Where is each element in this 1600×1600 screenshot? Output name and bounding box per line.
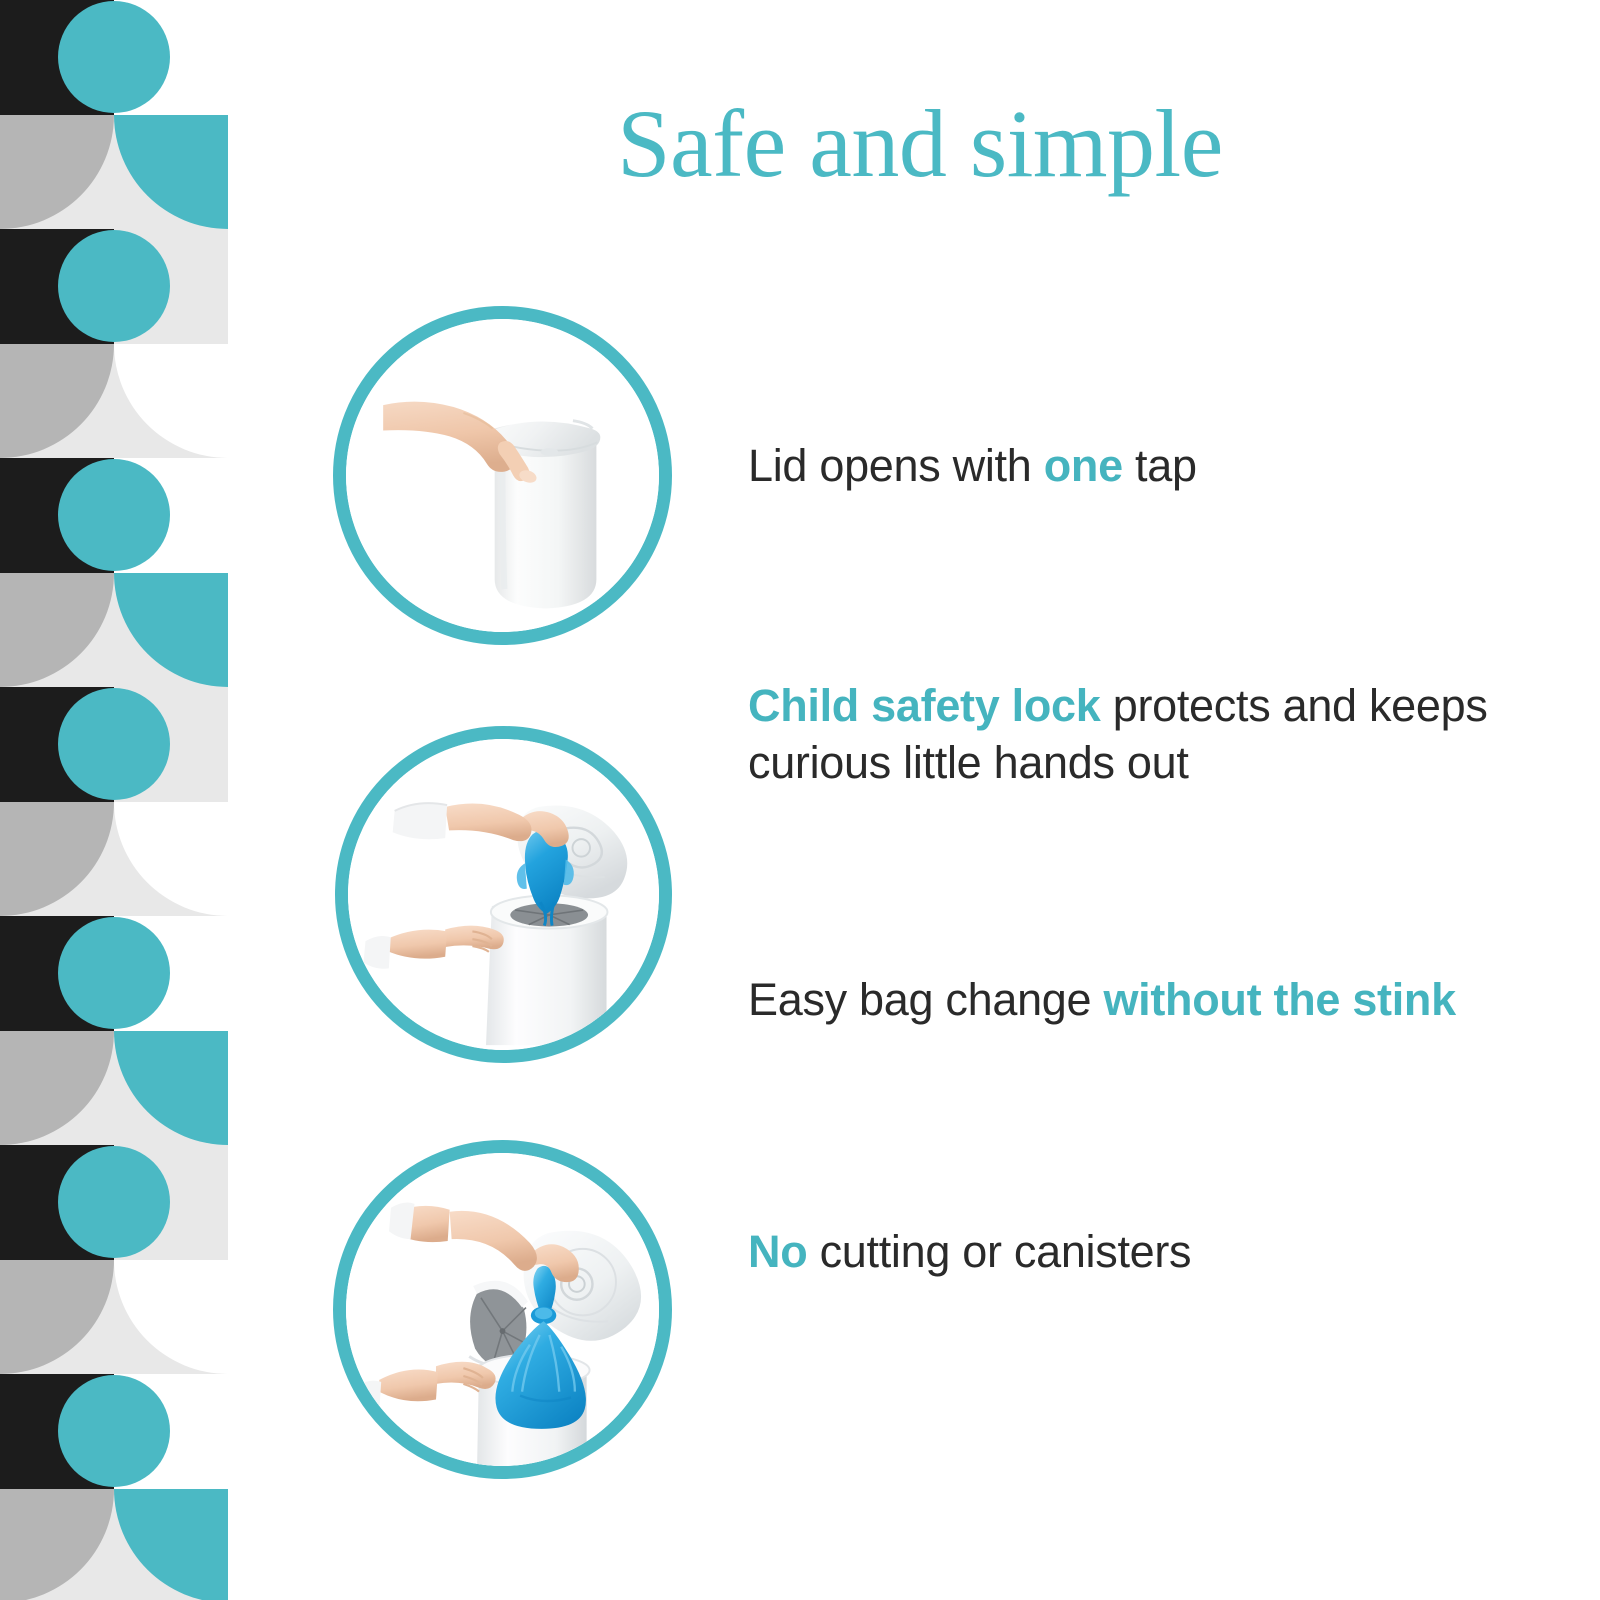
feature-1-part-1: one	[1044, 440, 1123, 491]
pattern-quarter-circle	[0, 1031, 114, 1145]
feature-1-part-2: tap	[1123, 440, 1197, 491]
feature-text-lid-one-tap: Lid opens with one tap	[748, 438, 1548, 495]
pattern-circle	[58, 688, 170, 800]
pattern-cell	[114, 802, 228, 916]
feature-1-part-0: Lid opens with	[748, 440, 1044, 491]
photo-ring-2	[335, 726, 672, 1063]
pattern-circle	[58, 1, 170, 113]
pattern-cell	[114, 1489, 228, 1600]
pattern-quarter-circle	[0, 1260, 114, 1374]
pattern-cell	[114, 1374, 228, 1489]
pattern-cell	[114, 1031, 228, 1145]
page-title: Safe and simple	[300, 96, 1540, 192]
photo-3-clip	[346, 1153, 659, 1466]
pattern-cell	[114, 229, 228, 344]
pattern-cell	[0, 1260, 114, 1374]
pattern-quarter-circle	[114, 1031, 228, 1145]
pattern-circle	[58, 230, 170, 342]
photo-1-clip	[346, 319, 659, 632]
feature-4-part-0: No	[748, 1226, 807, 1277]
geometric-pattern-strip	[0, 0, 228, 1600]
photo-2-clip	[348, 739, 659, 1050]
feature-text-easy-bag-change: Easy bag change without the stink	[748, 972, 1568, 1029]
pattern-cell	[114, 1145, 228, 1260]
pattern-circle	[58, 1146, 170, 1258]
feature-3-part-0: Easy bag change	[748, 974, 1103, 1025]
hand-removing-tied-bag-photo	[346, 1153, 659, 1466]
hands-loading-bag-photo	[348, 739, 659, 1050]
pattern-quarter-circle	[114, 115, 228, 229]
pattern-quarter-circle	[114, 1489, 228, 1600]
pattern-cell	[114, 115, 228, 229]
pattern-quarter-circle	[114, 1260, 228, 1374]
pattern-quarter-circle	[0, 115, 114, 229]
pattern-cell	[114, 0, 228, 115]
pattern-cell	[114, 573, 228, 687]
pattern-cell	[0, 573, 114, 687]
pattern-quarter-circle	[0, 802, 114, 916]
pattern-cell	[114, 916, 228, 1031]
feature-4-part-1: cutting or canisters	[807, 1226, 1191, 1277]
feature-text-child-safety-lock: Child safety lock protects and keeps cur…	[748, 678, 1508, 791]
pattern-cell	[0, 802, 114, 916]
pattern-cell	[0, 344, 114, 458]
pattern-cell	[0, 1031, 114, 1145]
photo-ring-3	[333, 1140, 672, 1479]
pattern-quarter-circle	[114, 344, 228, 458]
hand-tap-lid-photo	[346, 319, 659, 632]
pattern-cell	[114, 344, 228, 458]
pattern-cell	[114, 687, 228, 802]
pattern-circle	[58, 459, 170, 571]
pattern-quarter-circle	[0, 344, 114, 458]
feature-3-part-1: without the stink	[1103, 974, 1455, 1025]
infographic-page: Safe and simple	[0, 0, 1600, 1600]
feature-text-no-cutting-canisters: No cutting or canisters	[748, 1224, 1548, 1281]
pattern-cell	[0, 1489, 114, 1600]
pattern-quarter-circle	[114, 573, 228, 687]
pattern-cell	[114, 1260, 228, 1374]
photo-ring-1	[333, 306, 672, 645]
pattern-circle	[58, 917, 170, 1029]
pattern-quarter-circle	[114, 802, 228, 916]
pattern-quarter-circle	[0, 1489, 114, 1600]
pattern-quarter-circle	[0, 573, 114, 687]
pattern-cell	[114, 458, 228, 573]
pattern-cell	[0, 115, 114, 229]
pattern-circle	[58, 1375, 170, 1487]
feature-2-part-0: Child safety lock	[748, 680, 1101, 731]
